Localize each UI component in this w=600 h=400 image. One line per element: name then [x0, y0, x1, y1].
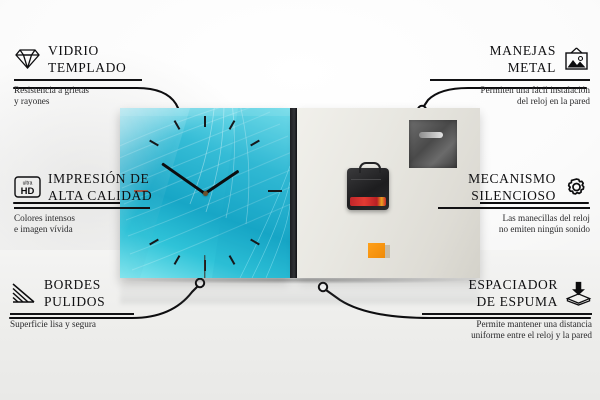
callout-espaciador-espuma: ESPACIADOR DE ESPUMA Permite mantener un… — [422, 278, 592, 341]
callout-rule — [422, 313, 592, 315]
callout-impresion-alta-calidad: ultra HD IMPRESIÓN DE ALTA CALIDAD Color… — [14, 172, 150, 235]
callout-description: Permite mantener una distancia uniforme … — [422, 319, 592, 342]
callout-description: Las manecillas del reloj no emiten ningú… — [438, 213, 590, 236]
callout-title: IMPRESIÓN DE ALTA CALIDAD — [48, 172, 152, 202]
callout-header: ESPACIADOR DE ESPUMA — [422, 278, 592, 308]
callout-header: MECANISMO SILENCIOSO — [438, 172, 590, 202]
callout-header: VIDRIO TEMPLADO — [14, 44, 142, 74]
battery — [350, 197, 386, 206]
orange-foam-spacer — [368, 243, 385, 258]
hanging-frame-icon — [563, 47, 590, 71]
polished-edge-icon — [10, 282, 37, 304]
callout-description: Resistencia a grietas y rayones — [14, 85, 142, 108]
hanger-slot — [419, 132, 443, 138]
callout-title: BORDES PULIDOS — [44, 278, 105, 308]
svg-text:HD: HD — [21, 186, 35, 197]
callout-description: Permiten una fácil instalación del reloj… — [430, 85, 590, 108]
callout-vidrio-templado: VIDRIO TEMPLADO Resistencia a grietas y … — [14, 44, 142, 107]
callout-title: ESPACIADOR DE ESPUMA — [468, 278, 558, 308]
product-feature-infographic: VIDRIO TEMPLADO Resistencia a grietas y … — [0, 0, 600, 400]
callout-rule — [14, 79, 142, 81]
diamond-icon — [14, 48, 41, 70]
second-hand — [204, 255, 205, 278]
callout-manejas-metal: MANEJAS METAL Permiten una fácil instala… — [430, 44, 590, 107]
metal-hanger-plate — [409, 120, 457, 168]
callout-header: ultra HD IMPRESIÓN DE ALTA CALIDAD — [14, 172, 150, 202]
clock-mechanism — [347, 168, 389, 210]
callout-rule — [10, 313, 134, 315]
callout-title: MECANISMO SILENCIOSO — [468, 172, 556, 202]
center-pin — [203, 191, 208, 196]
callout-title: VIDRIO TEMPLADO — [48, 44, 126, 74]
mechanism-hook — [359, 162, 381, 173]
ultra-hd-icon: ultra HD — [14, 176, 41, 198]
hour-hand — [204, 170, 240, 196]
callout-description: Superficie lisa y segura — [10, 319, 134, 330]
gear-icon — [563, 175, 590, 199]
foam-spacer-icon — [565, 281, 592, 305]
foam-spacer-shadow — [385, 245, 390, 258]
callout-header: BORDES PULIDOS — [10, 278, 134, 308]
minute-hand — [161, 162, 206, 195]
clock-side-edge — [290, 108, 297, 278]
callout-bordes-pulidos: BORDES PULIDOS Superficie lisa y segura — [10, 278, 134, 330]
callout-rule — [14, 207, 150, 209]
callout-mecanismo-silencioso: MECANISMO SILENCIOSO Las manecillas del … — [438, 172, 590, 235]
callout-rule — [430, 79, 590, 81]
wall-clock-product — [120, 108, 480, 283]
callout-title: MANEJAS METAL — [490, 44, 556, 74]
callout-header: MANEJAS METAL — [430, 44, 590, 74]
mechanism-detail — [351, 179, 381, 180]
callout-description: Colores intensos e imagen vívida — [14, 213, 150, 236]
callout-rule — [438, 207, 590, 209]
